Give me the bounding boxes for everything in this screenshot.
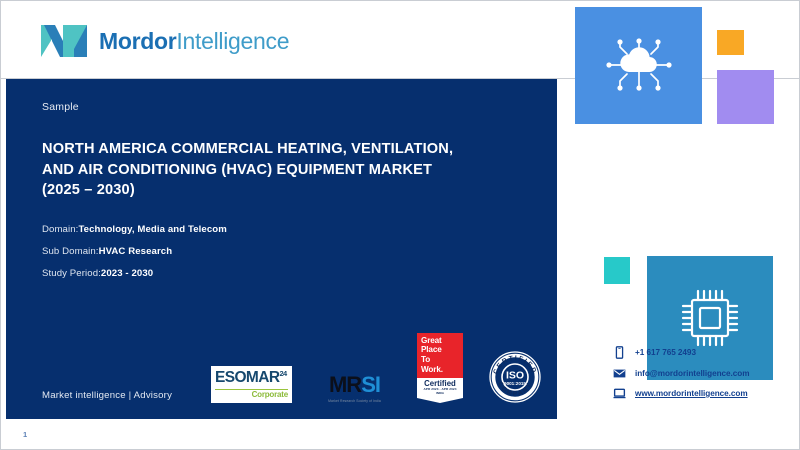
svg-text:9001:2015: 9001:2015	[504, 381, 526, 386]
mordor-m-logo-icon	[41, 25, 88, 57]
sample-label: Sample	[42, 101, 79, 113]
metadata-row-sub-domain: Sub Domain:HVAC Research	[42, 246, 462, 257]
gptw-line-1: Great	[421, 336, 459, 346]
gptw-headline: Great Place To Work.	[417, 333, 463, 379]
cloud-network-icon	[603, 34, 675, 98]
metadata-value: 2023 - 2030	[101, 268, 153, 279]
tagline: Market intelligence | Advisory	[42, 390, 172, 401]
metadata-key: Sub Domain:	[42, 246, 99, 257]
contact-row-email[interactable]: info@mordorintelligence.com	[613, 367, 749, 380]
gptw-ribbon-tail	[417, 398, 463, 403]
microchip-icon	[678, 286, 742, 350]
mrsi-name-dark: MR	[329, 372, 361, 397]
mrsi-subtitle: Market Research Society of India	[316, 399, 393, 403]
teal-square-tile	[604, 257, 630, 284]
metadata-key: Study Period:	[42, 268, 101, 279]
cover-panel: Sample NORTH AMERICA COMMERCIAL HEATING,…	[6, 79, 557, 419]
metadata-value: HVAC Research	[99, 246, 173, 257]
page-number: 1	[23, 430, 27, 439]
gptw-region: INDIA	[419, 392, 461, 396]
mrsi-wordmark: MRSI	[318, 375, 391, 396]
esomar-superscript: 24	[279, 369, 286, 378]
mrsi-name-blue: SI	[361, 372, 380, 397]
metadata-key: Domain:	[42, 224, 78, 235]
esomar-label: ESOMAR	[215, 369, 279, 386]
contact-row-phone[interactable]: +1 617 765 2493	[613, 346, 749, 359]
purple-square-tile	[717, 70, 774, 124]
brand-name-bold: Mordor	[99, 28, 176, 54]
cloud-network-icon-tile	[575, 7, 702, 124]
contact-details: +1 617 765 2493 info@mordorintelligence.…	[613, 346, 749, 400]
orange-square-tile	[717, 30, 744, 55]
website-url: www.mordorintelligence.com	[635, 389, 748, 398]
page-title: NORTH AMERICA COMMERCIAL HEATING, VENTIL…	[42, 139, 472, 201]
envelope-icon	[613, 367, 626, 380]
svg-text:ISO: ISO	[506, 370, 524, 382]
contact-row-website[interactable]: www.mordorintelligence.com	[613, 387, 749, 400]
esomar-subtitle: Corporate	[215, 391, 288, 400]
brand-wordmark: MordorIntelligence	[99, 30, 289, 53]
gptw-line-4: Work.	[421, 365, 459, 375]
iso-seal-icon: CERTIFIED COMPANY ISO 9001:2015	[489, 351, 541, 403]
certification-badges: ESOMAR24 Corporate MRSI Market Research …	[211, 341, 541, 403]
email-address: info@mordorintelligence.com	[635, 369, 749, 378]
phone-icon	[613, 346, 626, 359]
report-cover-page: MordorIntelligence Sample NORTH AMERICA …	[0, 0, 800, 450]
esomar-name: ESOMAR24	[215, 370, 287, 386]
metadata-row-study-period: Study Period:2023 - 2030	[42, 268, 462, 279]
gptw-certification: Certified APR 2023 - APR 2024 INDIA	[417, 378, 463, 398]
report-metadata: Domain:Technology, Media and Telecom Sub…	[42, 224, 462, 279]
mrsi-badge: MRSI Market Research Society of India	[318, 375, 391, 403]
phone-number: +1 617 765 2493	[635, 348, 696, 357]
gptw-line-3: To	[421, 355, 459, 365]
brand-logo[interactable]: MordorIntelligence	[41, 25, 289, 57]
esomar-badge: ESOMAR24 Corporate	[211, 366, 292, 403]
iso-certification-badge: CERTIFIED COMPANY ISO 9001:2015	[489, 351, 541, 403]
metadata-value: Technology, Media and Telecom	[78, 224, 226, 235]
great-place-to-work-badge: Great Place To Work. Certified APR 2023 …	[417, 333, 463, 403]
gptw-line-2: Place	[421, 345, 459, 355]
monitor-icon	[613, 387, 626, 400]
metadata-row-domain: Domain:Technology, Media and Telecom	[42, 224, 462, 235]
brand-name-light: Intelligence	[176, 28, 289, 54]
